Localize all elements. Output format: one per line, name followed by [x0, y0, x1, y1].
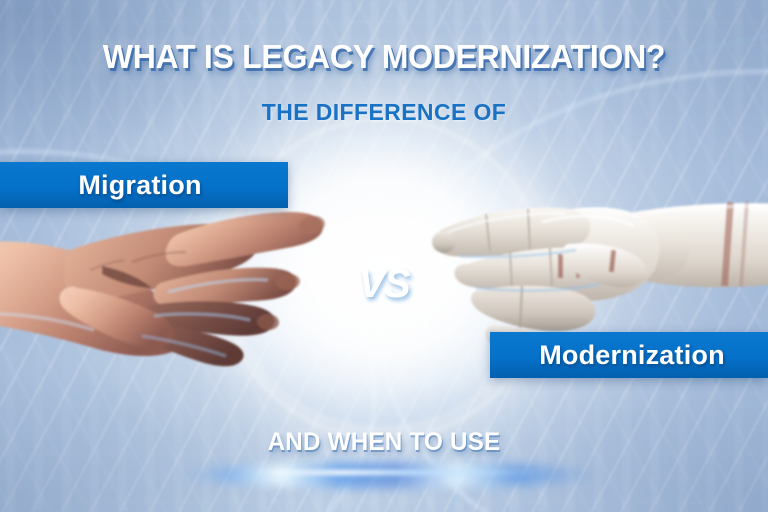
human-hand-image [0, 196, 342, 371]
bottom-light-streak-core [250, 470, 550, 475]
migration-banner-label: Migration [0, 170, 288, 201]
modernization-banner: Modernization [490, 332, 768, 378]
migration-banner: Migration [0, 162, 288, 208]
poster-canvas: WHAT IS LEGACY MODERNIZATION? THE DIFFER… [0, 0, 768, 512]
bottom-light-streak [180, 462, 600, 488]
subtitle: THE DIFFERENCE OF [0, 99, 768, 126]
bottom-caption: AND WHEN TO USE [12, 428, 757, 457]
modernization-banner-label: Modernization [490, 340, 768, 371]
versus-label: VS [345, 260, 423, 308]
page-title: WHAT IS LEGACY MODERNIZATION? [12, 38, 757, 76]
